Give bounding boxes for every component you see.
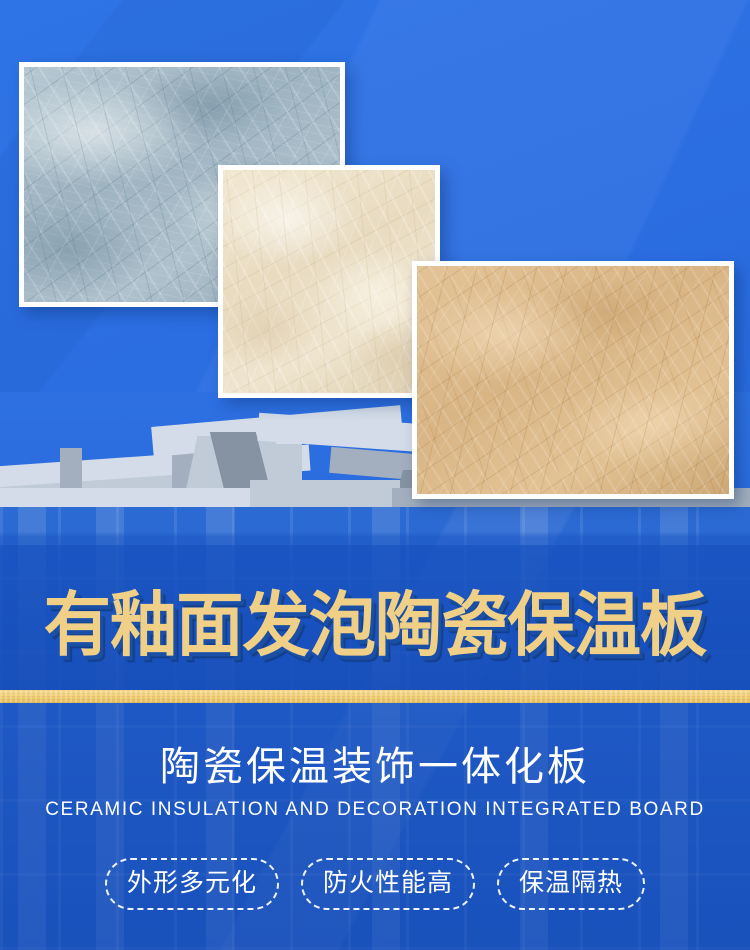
tile-texture-tan bbox=[417, 266, 729, 494]
page-title: 有釉面发泡陶瓷保温板 bbox=[15, 582, 735, 668]
feature-pill-thermal-insulation[interactable]: 保温隔热 bbox=[497, 858, 645, 910]
gold-divider-rule bbox=[0, 690, 750, 703]
subtitle-chinese: 陶瓷保温装饰一体化板 bbox=[0, 742, 750, 792]
tile-texture-cream bbox=[223, 170, 435, 393]
feature-pill-fire-resistance[interactable]: 防火性能高 bbox=[301, 858, 475, 910]
subtitle-english: CERAMIC INSULATION AND DECORATION INTEGR… bbox=[0, 798, 750, 822]
feature-pill-list: 外形多元化 防火性能高 保温隔热 bbox=[0, 858, 750, 910]
product-banner: 有釉面发泡陶瓷保温板 陶瓷保温装饰一体化板 CERAMIC INSULATION… bbox=[0, 0, 750, 950]
feature-pill-shape-variety[interactable]: 外形多元化 bbox=[105, 858, 279, 910]
tile-sample-cream-travertine bbox=[218, 165, 440, 398]
tile-sample-tan-marble bbox=[412, 261, 734, 499]
